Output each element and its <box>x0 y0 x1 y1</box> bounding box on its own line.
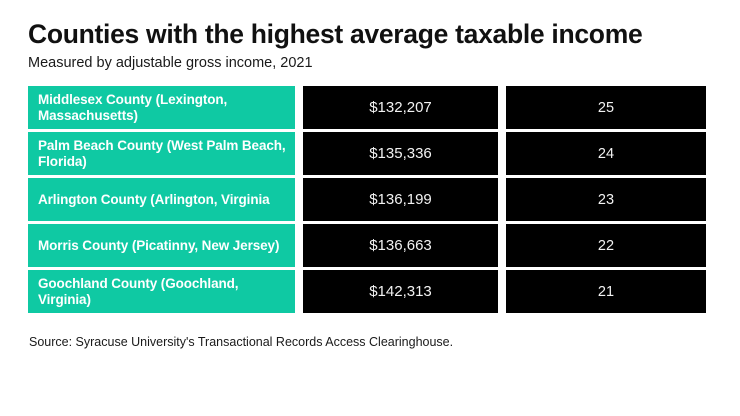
income-value-cell: $135,336 <box>303 132 498 175</box>
source-note: Source: Syracuse University's Transactio… <box>29 335 453 350</box>
county-name-cell: Middlesex County (Lexington, Massachuset… <box>28 86 295 129</box>
table-row: Goochland County (Goochland, Virginia) $… <box>28 270 706 313</box>
income-value-cell: $142,313 <box>303 270 498 313</box>
county-name-cell: Arlington County (Arlington, Virginia <box>28 178 295 221</box>
county-name-cell: Goochland County (Goochland, Virginia) <box>28 270 295 313</box>
rank-value-cell: 24 <box>506 132 706 175</box>
rank-value-cell: 25 <box>506 86 706 129</box>
rank-value-cell: 23 <box>506 178 706 221</box>
table-row: Morris County (Picatinny, New Jersey) $1… <box>28 224 706 267</box>
income-value-cell: $136,663 <box>303 224 498 267</box>
table-row: Middlesex County (Lexington, Massachuset… <box>28 86 706 129</box>
rank-value-cell: 21 <box>506 270 706 313</box>
income-table: Middlesex County (Lexington, Massachuset… <box>28 86 706 313</box>
table-row: Palm Beach County (West Palm Beach, Flor… <box>28 132 706 175</box>
page-subtitle: Measured by adjustable gross income, 202… <box>28 55 712 72</box>
header: Counties with the highest average taxabl… <box>28 20 712 73</box>
table-row: Arlington County (Arlington, Virginia $1… <box>28 178 706 221</box>
county-name-cell: Morris County (Picatinny, New Jersey) <box>28 224 295 267</box>
income-value-cell: $132,207 <box>303 86 498 129</box>
rank-value-cell: 22 <box>506 224 706 267</box>
page-title: Counties with the highest average taxabl… <box>28 20 712 49</box>
infographic-table-page: Counties with the highest average taxabl… <box>0 0 740 416</box>
income-value-cell: $136,199 <box>303 178 498 221</box>
county-name-cell: Palm Beach County (West Palm Beach, Flor… <box>28 132 295 175</box>
